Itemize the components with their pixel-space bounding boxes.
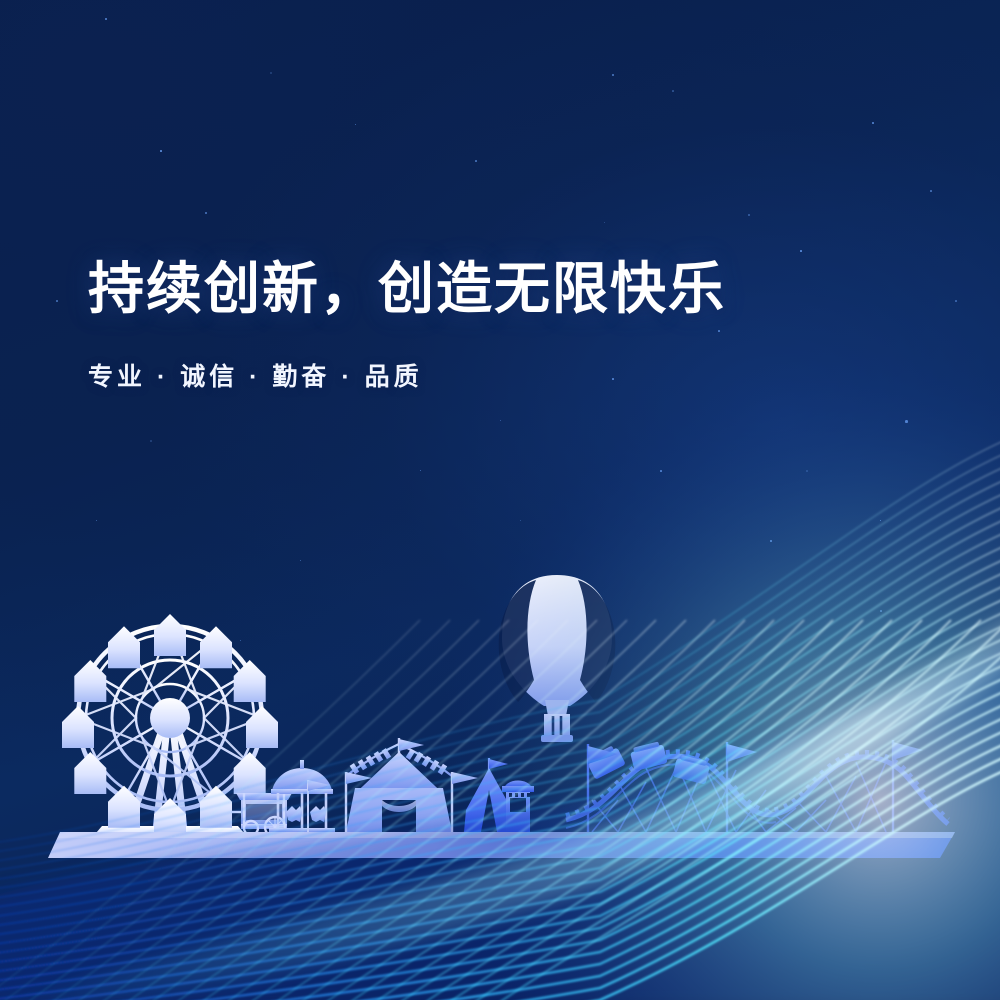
poster-canvas: 持续创新，创造无限快乐 专业 · 诚信 · 勤奋 · 品质: [0, 0, 1000, 1000]
page-title: 持续创新，创造无限快乐: [88, 258, 868, 321]
page-subtitle: 专业 · 诚信 · 勤奋 · 品质: [88, 357, 868, 393]
text-block: 持续创新，创造无限快乐 专业 · 诚信 · 勤奋 · 品质: [88, 258, 868, 393]
glow-wave-mesh: [0, 0, 1000, 1000]
